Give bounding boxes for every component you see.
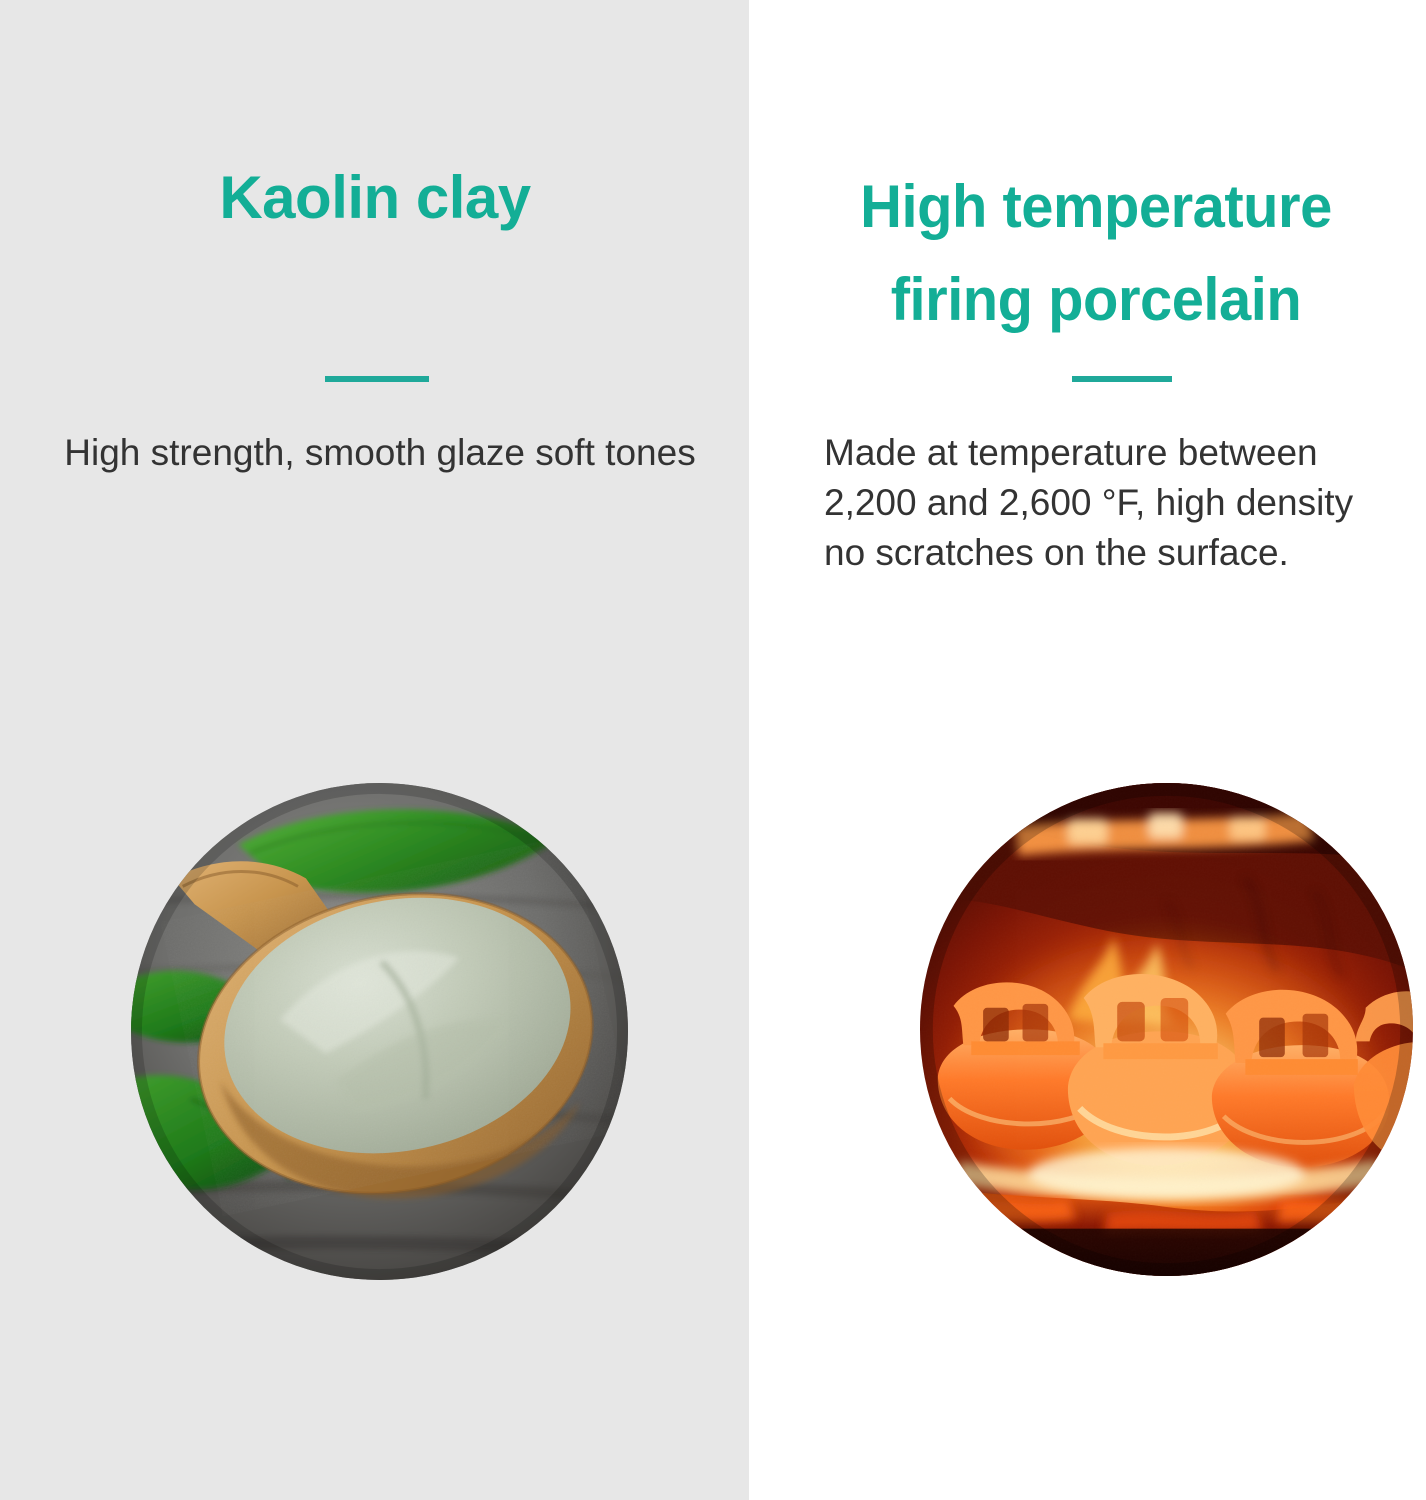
left-body-line-1: High strength, smooth glaze (64, 432, 525, 473)
right-column-body-text: Made at temperature between 2,200 and 2,… (824, 428, 1424, 578)
left-column-body-text: High strength, smooth glaze soft tones (60, 428, 700, 478)
left-column-heading: Kaolin clay (60, 162, 690, 234)
right-body-line-1: Made at temperature between (824, 428, 1424, 478)
product-feature-panel: Kaolin clay High strength, smooth glaze … (0, 0, 1426, 1500)
left-body-line-2: soft tones (535, 432, 695, 473)
right-heading-line-1: High temperature (781, 160, 1410, 253)
right-body-line-3: no scratches on the surface. (824, 528, 1424, 578)
right-column-heading: High temperature firing porcelain (781, 160, 1410, 346)
kaolin-clay-photo (131, 783, 628, 1280)
right-heading-line-2: firing porcelain (781, 253, 1410, 346)
left-column-divider (325, 376, 429, 382)
kiln-firing-photo (920, 783, 1413, 1276)
right-column-divider (1072, 376, 1172, 382)
right-body-line-2: 2,200 and 2,600 °F, high density (824, 478, 1424, 528)
